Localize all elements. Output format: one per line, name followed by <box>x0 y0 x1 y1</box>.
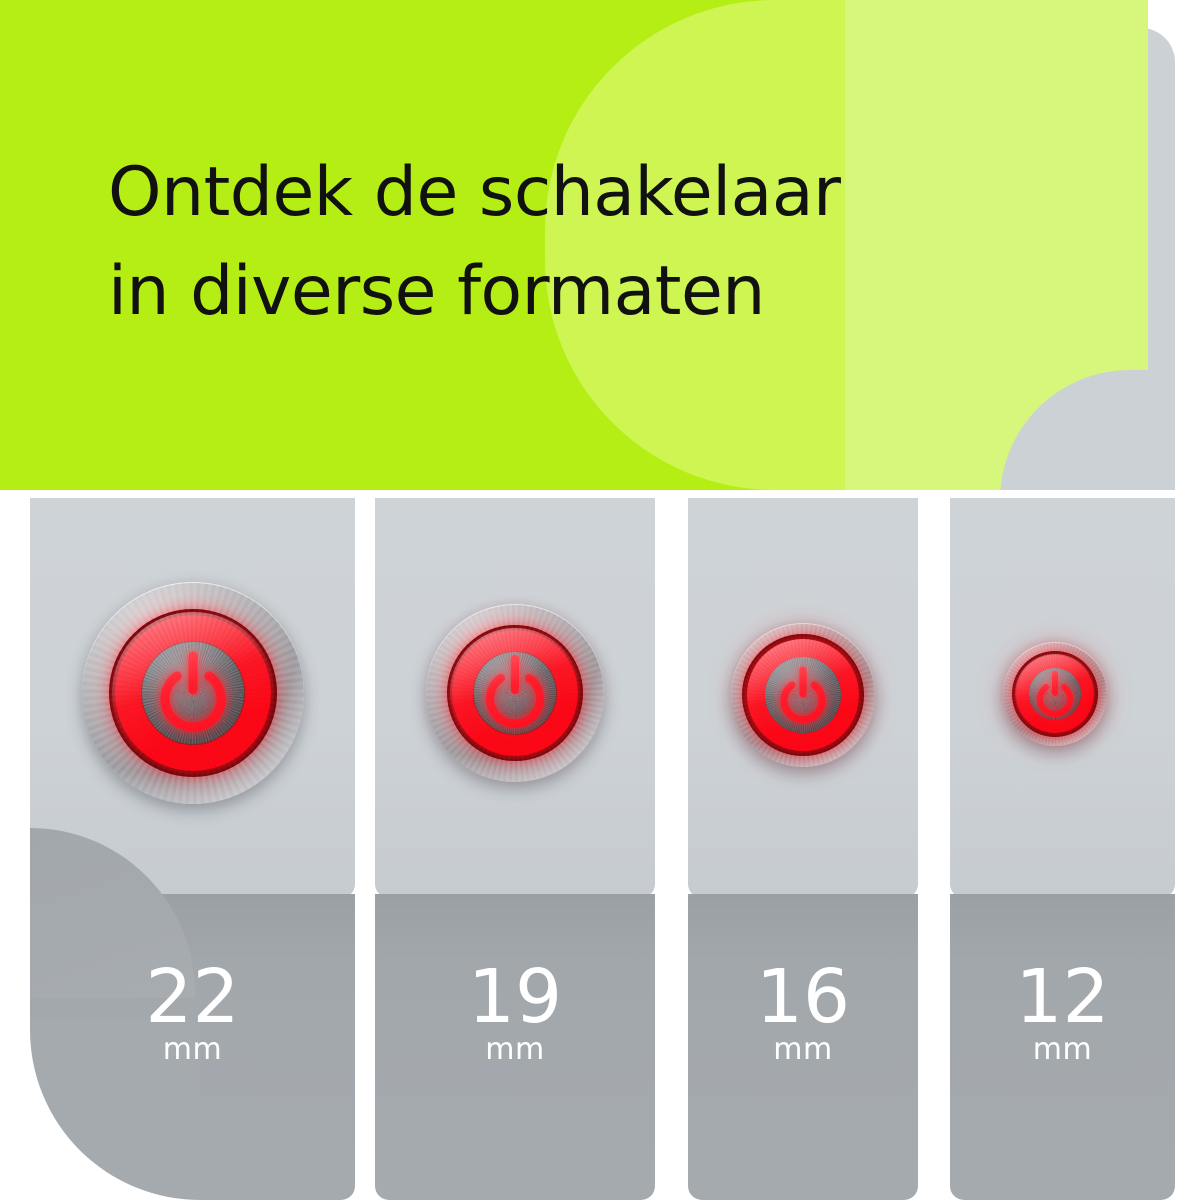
size-number: 22 <box>30 963 355 1031</box>
switch-inner-face <box>765 657 841 733</box>
size-column-16mm[interactable]: 16 mm <box>688 498 918 1200</box>
size-number: 19 <box>375 963 655 1031</box>
power-switch-12mm[interactable] <box>1003 642 1107 746</box>
switch-glare <box>747 639 859 751</box>
switch-black-bezel <box>447 625 583 761</box>
switch-black-bezel <box>742 634 864 756</box>
switch-metal-body <box>426 604 604 782</box>
size-number: 12 <box>950 963 1175 1031</box>
switch-glare <box>112 612 274 774</box>
switch-black-bezel <box>109 609 277 777</box>
switch-metal-body <box>82 582 304 804</box>
promo-banner-canvas: Ontdek de schakelaar in diverse formaten <box>0 0 1200 1200</box>
switch-black-bezel <box>1012 651 1098 737</box>
size-label-16mm: 16 mm <box>688 963 918 1069</box>
switch-glare <box>450 628 580 758</box>
banner-right-white-margin <box>1175 0 1200 500</box>
power-icon <box>156 650 230 736</box>
size-comparison-row: 22 mm <box>0 498 1200 1200</box>
banner-header: Ontdek de schakelaar in diverse formaten <box>0 0 1200 500</box>
switch-metal-body <box>731 623 875 767</box>
size-unit: mm <box>30 1031 355 1069</box>
size-label-22mm: 22 mm <box>30 963 355 1069</box>
size-column-12mm[interactable]: 12 mm <box>950 498 1175 1200</box>
switch-inner-face <box>1029 668 1081 720</box>
switch-inner-face <box>142 642 244 744</box>
switch-red-ring-led <box>1016 655 1094 733</box>
power-icon <box>483 654 547 730</box>
size-column-22mm[interactable]: 22 mm <box>30 498 355 1200</box>
switch-inner-face <box>474 652 556 734</box>
switch-metal-body <box>1003 642 1107 746</box>
size-unit: mm <box>950 1031 1175 1069</box>
power-switch-22mm[interactable] <box>82 582 304 804</box>
size-label-19mm: 19 mm <box>375 963 655 1069</box>
size-column-19mm[interactable]: 19 mm <box>375 498 655 1200</box>
switch-glare <box>1015 654 1095 734</box>
switch-red-ring-led <box>115 615 271 771</box>
size-number: 16 <box>688 963 918 1031</box>
switch-red-ring-led <box>452 630 578 756</box>
page-title: Ontdek de schakelaar in diverse formaten <box>108 143 1028 342</box>
size-label-12mm: 12 mm <box>950 963 1175 1069</box>
power-icon <box>1036 671 1074 717</box>
power-switch-16mm[interactable] <box>731 623 875 767</box>
switch-red-ring-led <box>747 639 859 751</box>
power-icon <box>780 666 826 724</box>
power-switch-19mm[interactable] <box>426 604 604 782</box>
size-unit: mm <box>688 1031 918 1069</box>
size-unit: mm <box>375 1031 655 1069</box>
